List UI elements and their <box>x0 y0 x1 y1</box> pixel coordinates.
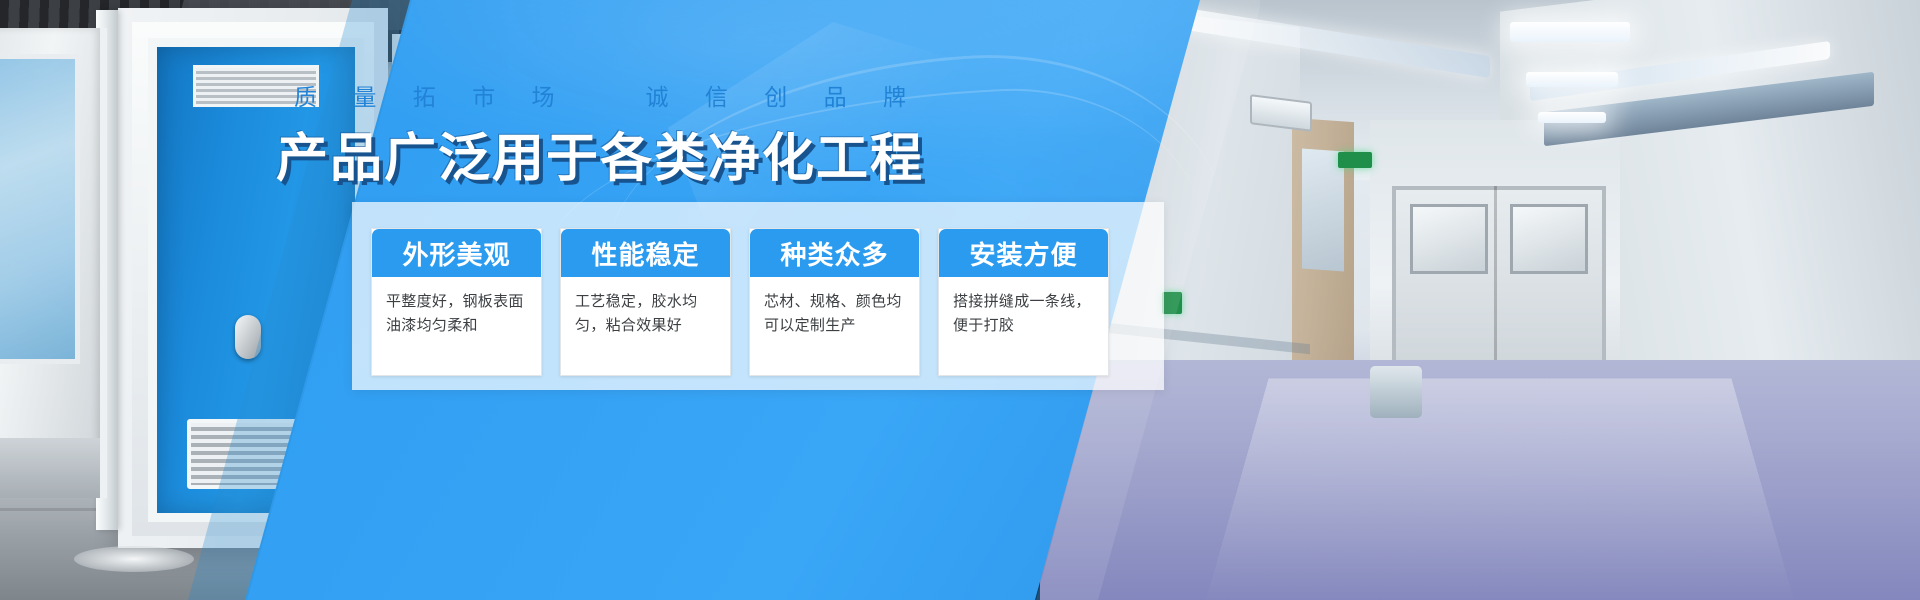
feature-card-title: 种类众多 <box>750 229 919 277</box>
feature-card[interactable]: 安装方便 搭接拼缝成一条线，便于打胶 <box>938 228 1109 376</box>
feature-card-text: 平整度好，钢板表面油漆均匀柔和 <box>372 277 541 375</box>
feature-card-text: 工艺稳定，胶水均匀，粘合效果好 <box>561 277 730 375</box>
banner-headline: 产品广泛用于各类净化工程 <box>0 116 1200 191</box>
feature-card[interactable]: 种类众多 芯材、规格、颜色均可以定制生产 <box>749 228 920 376</box>
feature-card[interactable]: 性能稳定 工艺稳定，胶水均匀，粘合效果好 <box>560 228 731 376</box>
feature-card-list: 外形美观 平整度好，钢板表面油漆均匀柔和 性能稳定 工艺稳定，胶水均匀，粘合效果… <box>371 228 1145 376</box>
feature-card-title: 安装方便 <box>939 229 1108 277</box>
promo-banner: 质 量 拓 市 场 诚 信 创 品 牌 产品广泛用于各类净化工程 外形美观 平整… <box>0 0 1920 600</box>
blue-overlay-panel: 质 量 拓 市 场 诚 信 创 品 牌 产品广泛用于各类净化工程 外形美观 平整… <box>0 0 1920 600</box>
banner-tagline: 质 量 拓 市 场 诚 信 创 品 牌 <box>0 78 1200 112</box>
feature-card-title: 外形美观 <box>372 229 541 277</box>
feature-card-title: 性能稳定 <box>561 229 730 277</box>
feature-card[interactable]: 外形美观 平整度好，钢板表面油漆均匀柔和 <box>371 228 542 376</box>
feature-card-text: 搭接拼缝成一条线，便于打胶 <box>939 277 1108 375</box>
feature-card-text: 芯材、规格、颜色均可以定制生产 <box>750 277 919 375</box>
